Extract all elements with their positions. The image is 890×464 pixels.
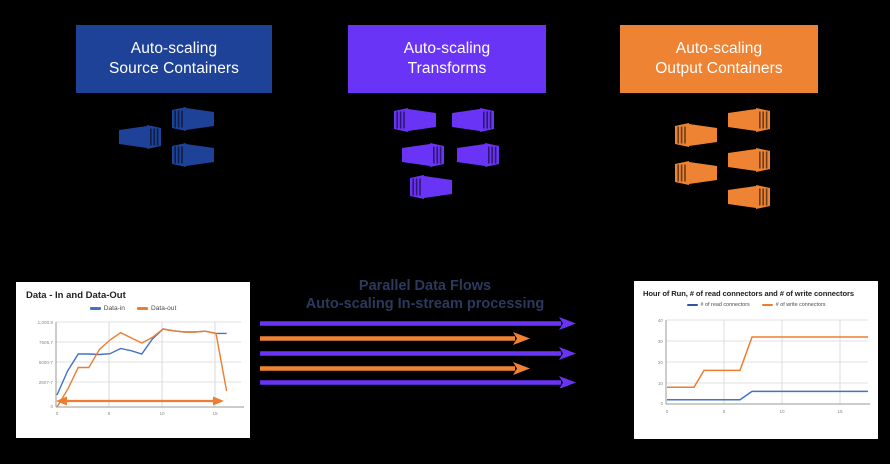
container-icon xyxy=(455,140,501,170)
svg-text:40: 40 xyxy=(658,318,664,323)
svg-text:7506.7: 7506.7 xyxy=(39,340,53,345)
container-icon xyxy=(450,105,496,135)
header-line-1: Auto-scaling xyxy=(404,39,491,59)
legend-label: Data-in xyxy=(104,305,125,312)
container-icon xyxy=(726,182,772,212)
y-tick-labels: 1,000.8 7506.7 5000-7 2507-7 0 xyxy=(38,320,54,409)
header-line-2: Transforms xyxy=(408,59,487,79)
chart-panel-data-in-out: Data - In and Data-Out Data-in Data-out xyxy=(16,282,250,438)
svg-text:5: 5 xyxy=(723,409,726,414)
svg-text:0: 0 xyxy=(50,404,53,409)
container-icon xyxy=(408,172,454,202)
svg-text:2507-7: 2507-7 xyxy=(39,380,54,385)
svg-text:1,000.8: 1,000.8 xyxy=(38,320,54,325)
svg-text:30: 30 xyxy=(658,339,664,344)
container-icon xyxy=(117,122,163,152)
x-tick-labels: 0 5 10 15 xyxy=(666,409,843,414)
svg-text:15: 15 xyxy=(212,411,218,416)
legend-label: Data-out xyxy=(151,305,176,312)
flow-arrow-4 xyxy=(260,362,530,375)
span-arrow xyxy=(56,397,224,406)
svg-text:15: 15 xyxy=(837,409,843,414)
svg-text:0: 0 xyxy=(666,409,669,414)
flow-arrow-3 xyxy=(260,347,576,360)
legend-swatch xyxy=(90,307,101,310)
header-box-transforms: Auto-scaling Transforms xyxy=(348,25,546,93)
flow-arrows xyxy=(258,316,583,388)
legend-item-read-connectors: # of read connectors xyxy=(687,302,750,308)
chart-plot-area: 1,000.8 7506.7 5000-7 2507-7 0 0 5 10 15 xyxy=(16,315,250,427)
container-icon xyxy=(726,105,772,135)
container-icon xyxy=(170,104,216,134)
container-icon xyxy=(400,140,446,170)
flow-arrow-1 xyxy=(260,317,576,330)
chart-legend: Data-in Data-out xyxy=(16,305,250,312)
legend-swatch xyxy=(762,304,773,307)
y-tick-labels: 40 30 20 10 0 xyxy=(658,318,664,406)
flow-arrow-2 xyxy=(260,332,530,345)
svg-text:0: 0 xyxy=(56,411,59,416)
header-box-source-containers: Auto-scaling Source Containers xyxy=(76,25,272,93)
chart-title: Data - In and Data-Out xyxy=(16,282,250,301)
header-box-output-containers: Auto-scaling Output Containers xyxy=(620,25,818,93)
chart-plot-area: 40 30 20 10 0 0 5 10 15 xyxy=(634,312,878,430)
chart-panel-connectors: Hour of Run, # of read connectors and # … xyxy=(634,281,878,439)
svg-text:5000-7: 5000-7 xyxy=(39,360,54,365)
legend-swatch xyxy=(687,304,698,307)
container-icon xyxy=(392,105,438,135)
parallel-data-flows-label: Parallel Data Flows Auto-scaling In-stre… xyxy=(270,277,580,313)
centre-line-1: Parallel Data Flows xyxy=(270,277,580,295)
legend-item-write-connectors: # of write connectors xyxy=(762,302,826,308)
chart-legend: # of read connectors # of write connecto… xyxy=(634,302,878,308)
header-line-2: Output Containers xyxy=(655,59,783,79)
legend-swatch xyxy=(137,307,148,310)
grid-lines xyxy=(56,322,241,382)
svg-text:0: 0 xyxy=(660,401,663,406)
svg-text:5: 5 xyxy=(108,411,111,416)
flow-arrow-5 xyxy=(260,376,576,388)
series-read-connectors xyxy=(667,391,868,399)
series-data-out xyxy=(57,329,227,407)
svg-text:10: 10 xyxy=(159,411,165,416)
x-tick-labels: 0 5 10 15 xyxy=(56,411,218,416)
container-icon xyxy=(170,140,216,170)
legend-item-data-out: Data-out xyxy=(137,305,176,312)
container-icon xyxy=(726,145,772,175)
legend-label: # of write connectors xyxy=(776,302,826,308)
container-icon xyxy=(673,120,719,150)
legend-label: # of read connectors xyxy=(701,302,750,308)
svg-text:10: 10 xyxy=(779,409,785,414)
legend-item-data-in: Data-in xyxy=(90,305,125,312)
centre-line-2: Auto-scaling In-stream processing xyxy=(270,295,580,313)
svg-text:10: 10 xyxy=(658,381,664,386)
container-icon xyxy=(673,158,719,188)
header-line-1: Auto-scaling xyxy=(131,39,218,59)
grid-lines xyxy=(666,320,868,383)
header-line-2: Source Containers xyxy=(109,59,239,79)
svg-text:20: 20 xyxy=(658,360,664,365)
header-line-1: Auto-scaling xyxy=(676,39,763,59)
chart-title: Hour of Run, # of read connectors and # … xyxy=(634,281,878,298)
slide-canvas: Auto-scaling Source Containers Auto-scal… xyxy=(0,0,890,464)
